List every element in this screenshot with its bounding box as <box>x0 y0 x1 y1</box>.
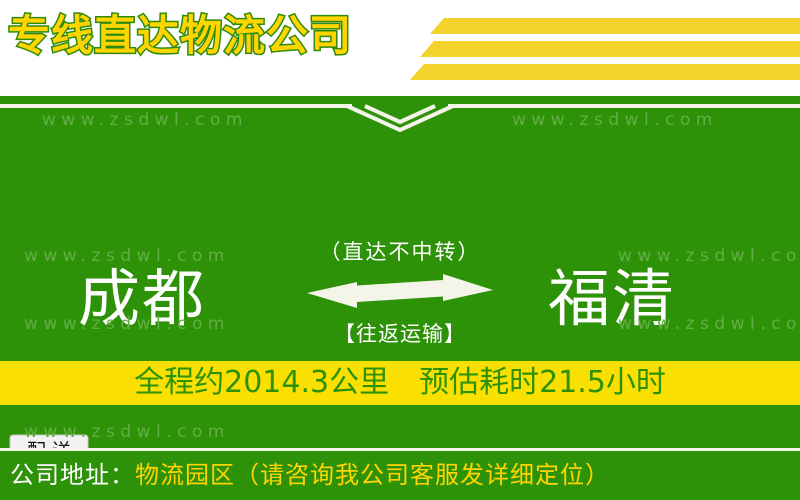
top-rule-left <box>0 104 352 108</box>
bidirectional-arrow-icon <box>285 274 515 316</box>
watermark: www.zsdwl.com <box>24 246 230 266</box>
watermark: www.zsdwl.com <box>618 314 800 334</box>
distance-duration-text: 全程约2014.3公里 预估耗时21.5小时 <box>0 361 800 405</box>
watermark: www.zsdwl.com <box>618 246 800 266</box>
watermark: www.zsdwl.com <box>24 422 230 442</box>
header-stripe-3 <box>410 64 800 80</box>
distance-duration-band: 全程约2014.3公里 预估耗时21.5小时 <box>0 361 800 405</box>
page-title: 专线直达物流公司 <box>8 10 352 62</box>
footer-address-bar: 公司地址：物流园区（请咨询我公司客服发详细定位） <box>0 451 800 500</box>
company-address: 公司地址：物流园区（请咨询我公司客服发详细定位） <box>10 451 610 500</box>
logistics-route-banner: 专线直达物流公司 www.zsdwl.com www.zsdwl.com 成都 … <box>0 0 800 500</box>
top-rule-right <box>448 104 800 108</box>
watermark: www.zsdwl.com <box>24 314 230 334</box>
watermark: www.zsdwl.com <box>42 110 248 130</box>
address-label: 公司地址： <box>10 461 135 489</box>
banner-body: www.zsdwl.com www.zsdwl.com 成都 福清 （直达不中转… <box>0 96 800 448</box>
banner-header: 专线直达物流公司 <box>0 0 800 96</box>
watermark: www.zsdwl.com <box>512 110 718 130</box>
chevron-down-icon <box>345 100 455 134</box>
header-stripe-2 <box>420 41 800 57</box>
address-value: 物流园区（请咨询我公司客服发详细定位） <box>135 461 610 489</box>
header-stripe-1 <box>430 18 800 34</box>
